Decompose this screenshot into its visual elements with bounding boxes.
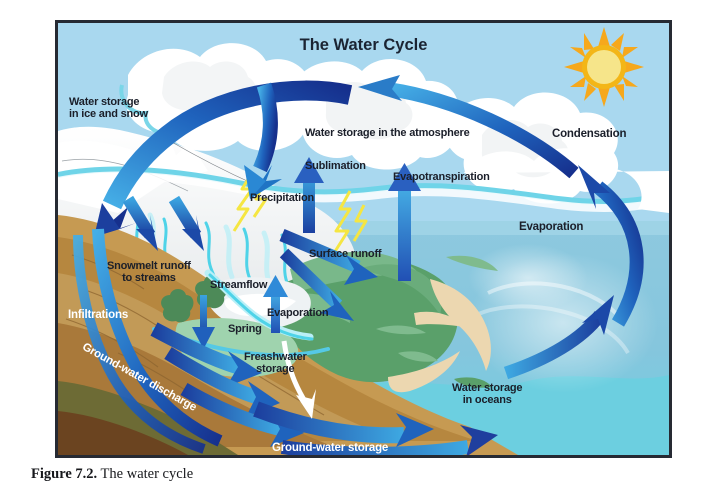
label-precipitation: Precipitation — [250, 193, 314, 205]
page-title: The Water Cycle — [300, 36, 428, 55]
ocean-swirl-2 — [468, 244, 588, 312]
label-water-storage-oceans: Water storage in oceans — [452, 383, 522, 407]
label-groundwater-storage: Ground-water storage — [272, 442, 388, 454]
figure-caption: Figure 7.2. The water cycle — [31, 466, 531, 483]
label-streamflow: Streamflow — [210, 280, 267, 292]
label-water-storage-atmosphere: Water storage in the atmosphere — [305, 128, 470, 140]
label-condensation: Condensation — [552, 128, 626, 140]
label-freshwater-storage: Freashwater storage — [244, 352, 307, 376]
label-infiltrations: Infiltrations — [68, 309, 128, 321]
label-spring: Spring — [228, 324, 262, 336]
label-water-storage-ice-snow: Water storage in ice and snow — [69, 97, 148, 121]
label-sublimation: Sublimation — [305, 161, 366, 173]
label-surface-runoff: Surface runoff — [309, 249, 381, 261]
ocean-surface-band — [316, 221, 669, 235]
label-evapotranspiration: Evapotranspiration — [393, 172, 490, 184]
water-cycle-figure: The Water Cycle Water storage in ice and… — [55, 20, 672, 458]
label-evaporation-ocean: Evaporation — [519, 221, 583, 233]
caption-number: Figure 7.2. — [31, 466, 97, 482]
label-snowmelt-runoff: Snowmelt runoff to streams — [107, 261, 191, 285]
sun-core — [587, 50, 621, 84]
label-evaporation-land: Evaporation — [267, 308, 328, 320]
caption-text: The water cycle — [97, 466, 193, 482]
page-root: The Water Cycle Water storage in ice and… — [0, 0, 709, 489]
